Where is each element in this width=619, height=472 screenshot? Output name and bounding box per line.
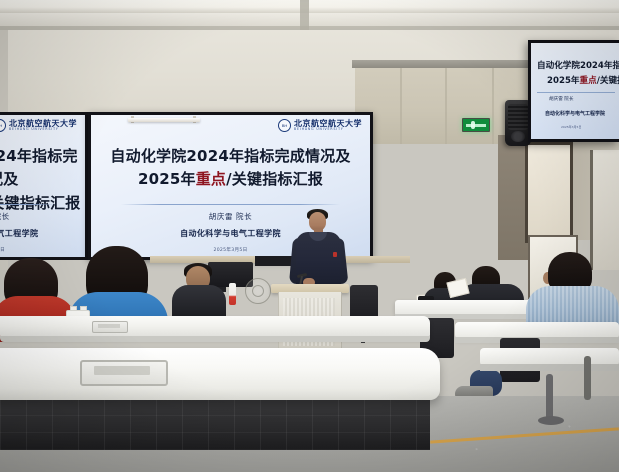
right-wall-monitor: 自动化学院2024年指标完成情况及 2025年重点/关键指标汇报 胡庆雷 院长 … xyxy=(528,40,619,142)
left-projection-screen: BH 北京航空航天大学 BEIHANG UNIVERSITY 自动化学院2024… xyxy=(0,112,88,260)
wall-emblem-inner xyxy=(252,285,264,297)
attendee-dark-suit-body xyxy=(172,285,226,319)
university-seal-icon: BH xyxy=(0,119,6,132)
monitor-slide: 自动化学院2024年指标完成情况及 2025年重点/关键指标汇报 胡庆雷 院长 … xyxy=(531,43,619,139)
university-seal-icon: BH xyxy=(278,119,291,132)
university-logo: BH 北京航空航天大学 BEIHANG UNIVERSITY xyxy=(278,119,362,132)
left-slide-date: 2025年3月5日 xyxy=(0,247,85,253)
monitor-presenter: 胡庆雷 院长 xyxy=(549,96,573,102)
desk-leg xyxy=(584,356,591,400)
attendee-blue-shirt-texture xyxy=(526,286,619,326)
stage-chair-back xyxy=(350,285,378,319)
speaker-badge xyxy=(333,252,337,257)
middle-desk-row xyxy=(0,316,430,338)
right-window-frame xyxy=(590,150,619,270)
foreground-desk-cable-slot xyxy=(94,366,150,375)
university-logo: BH 北京航空航天大学 BEIHANG UNIVERSITY xyxy=(0,119,77,132)
logo-english-name: BEIHANG UNIVERSITY xyxy=(294,128,362,131)
ceiling-light-strip xyxy=(0,0,619,13)
logo-english-name: BEIHANG UNIVERSITY xyxy=(9,128,77,131)
foreground-desk xyxy=(0,348,440,400)
left-slide-divider xyxy=(0,204,55,205)
left-slide: BH 北京航空航天大学 BEIHANG UNIVERSITY 自动化学院2024… xyxy=(0,115,85,257)
monitor-title: 自动化学院2024年指标完成情况及 2025年重点/关键指标汇报 xyxy=(537,59,619,88)
desk-leg xyxy=(546,374,553,420)
lecture-hall-photo: BH 北京航空航天大学 BEIHANG UNIVERSITY 自动化学院2024… xyxy=(0,0,619,472)
slide-title: 自动化学院2024年指标完成情况及 2025年重点/关键指标汇报 xyxy=(91,145,370,192)
slide-title-line-2: 2025年重点/关键指标汇报 xyxy=(91,168,370,191)
left-slide-affiliation: 自动化科学与电气工程学院 xyxy=(0,228,85,239)
right-wall-panel xyxy=(525,142,573,243)
desk-leg-foot xyxy=(538,416,564,425)
wall-panel-seam xyxy=(492,62,494,144)
wall-panel-seam xyxy=(400,62,402,144)
water-bottle xyxy=(229,283,236,305)
slide-title-line-1: 自动化学院2024年指标完成情况及 xyxy=(91,145,370,168)
slide-divider xyxy=(121,204,340,205)
whiteboard-tray xyxy=(128,118,200,122)
monitor-date: 2025年3月5日 xyxy=(561,125,581,129)
slide-presenter: 胡庆雷 院长 xyxy=(91,211,370,222)
middle-desk-cable-slot xyxy=(98,324,120,328)
monitor-affiliation: 自动化科学与电气工程学院 xyxy=(545,110,605,117)
emergency-exit-icon xyxy=(462,118,490,132)
wall-panel-seam xyxy=(445,62,447,144)
right-desk-row-3-edge xyxy=(480,364,619,371)
monitor-divider xyxy=(537,92,615,93)
left-slide-presenter: 胡庆雷 院长 xyxy=(0,211,85,222)
ceiling-beam xyxy=(300,0,309,30)
slide-title-highlight: 重点 xyxy=(196,170,226,188)
desk-modesty-grid xyxy=(0,398,430,450)
middle-desk-edge xyxy=(0,336,430,342)
